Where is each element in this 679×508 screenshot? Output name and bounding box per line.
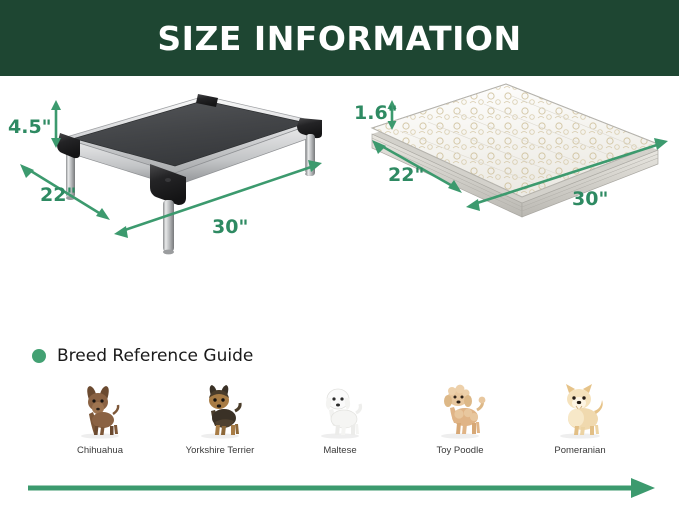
breed-label: Chihuahua — [77, 445, 123, 456]
cot-depth-label: 22" — [40, 184, 76, 206]
breed-guide-heading: Breed Reference Guide — [32, 346, 253, 366]
right-arrow-icon — [0, 476, 679, 508]
yorkshire-terrier-icon — [175, 378, 265, 440]
breed-item: Chihuahua — [40, 378, 160, 456]
page-header: SIZE INFORMATION — [0, 0, 679, 76]
breed-guide-heading-text: Breed Reference Guide — [57, 346, 253, 366]
breed-reference-section: Breed Reference Guide — [0, 336, 679, 508]
page-title: SIZE INFORMATION — [157, 19, 521, 58]
breed-label: Toy Poodle — [436, 445, 483, 456]
breed-item: Maltese — [280, 378, 400, 456]
mattress-width-label: 30" — [572, 188, 608, 210]
mattress-icon — [350, 76, 679, 336]
breed-list: Chihuahua — [40, 378, 640, 456]
mattress-depth-label: 22" — [388, 164, 424, 186]
breed-item: Toy Poodle — [400, 378, 520, 456]
green-dot-icon — [32, 349, 46, 363]
toy-poodle-icon — [415, 378, 505, 440]
chihuahua-icon — [55, 378, 145, 440]
product-mattress: 1.6" 22" 30" — [350, 76, 679, 336]
product-pet-cot: 4.5" 22" 30" — [0, 76, 350, 336]
cot-height-label: 4.5" — [8, 116, 52, 138]
maltese-icon — [295, 378, 385, 440]
pet-cot-icon — [0, 76, 350, 336]
mattress-height-label: 1.6" — [354, 102, 398, 124]
breed-label: Maltese — [323, 445, 356, 456]
breed-item: Yorkshire Terrier — [160, 378, 280, 456]
pomeranian-icon — [535, 378, 625, 440]
cot-width-label: 30" — [212, 216, 248, 238]
cot-leg-front-left — [163, 200, 174, 254]
breed-item: Pomeranian — [520, 378, 640, 456]
products-section: 4.5" 22" 30" — [0, 76, 679, 336]
breed-label: Pomeranian — [554, 445, 605, 456]
breed-label: Yorkshire Terrier — [186, 445, 255, 456]
